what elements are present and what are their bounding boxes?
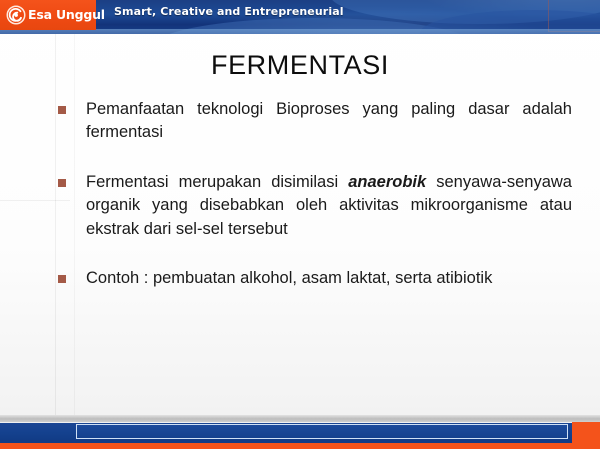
list-item: Contoh : pembuatan alkohol, asam laktat,… (56, 267, 572, 290)
bullet-square-icon (58, 275, 66, 283)
bullet-square-icon (58, 179, 66, 187)
header-corner-frame (548, 0, 600, 32)
bullet-segment: Contoh : pembuatan alkohol, asam laktat,… (86, 269, 492, 287)
slide-footer-band (0, 415, 600, 449)
list-item: Pemanfaatan teknologi Bioproses yang pal… (56, 98, 572, 145)
esa-unggul-swirl-logo-icon (6, 5, 26, 25)
bullet-square-icon (58, 106, 66, 114)
slide-content-area: FERMENTASI Pemanfaatan teknologi Biopros… (0, 34, 600, 415)
bullet-text-2: Fermentasi merupakan disimilasi anaerobi… (86, 171, 572, 241)
bullet-emphasis-anaerobik: anaerobik (348, 173, 426, 191)
bullet-text-3: Contoh : pembuatan alkohol, asam laktat,… (86, 267, 572, 290)
footer-gray-strip (0, 415, 600, 422)
brand-tagline: Smart, Creative and Entrepreneurial (114, 5, 344, 18)
bullet-segment: Pemanfaatan teknologi Bioproses yang pal… (86, 100, 572, 141)
page-title: FERMENTASI (0, 50, 600, 81)
bullet-text-1: Pemanfaatan teknologi Bioproses yang pal… (86, 98, 572, 145)
bullet-segment: Fermentasi merupakan disimilasi (86, 173, 348, 191)
list-item: Fermentasi merupakan disimilasi anaerobi… (56, 171, 572, 241)
brand-logo-text: Esa Unggul (28, 9, 105, 22)
brand-logo-block[interactable]: Esa Unggul (0, 0, 96, 30)
footer-blue-inner-outline (76, 424, 568, 439)
footer-orange-strip (0, 443, 600, 449)
bullet-list: Pemanfaatan teknologi Bioproses yang pal… (56, 98, 572, 317)
presentation-slide: Esa Unggul Smart, Creative and Entrepren… (0, 0, 600, 449)
